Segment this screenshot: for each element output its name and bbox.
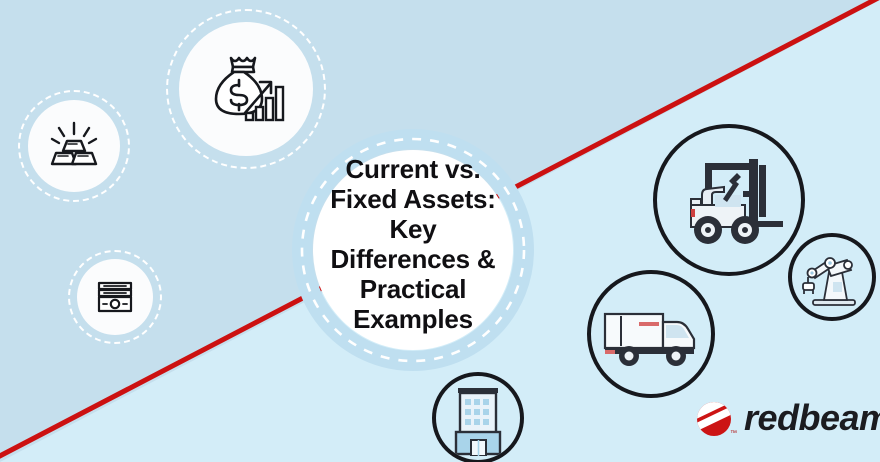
badge-cash-stack: [68, 250, 162, 344]
page-title: Current vs. Fixed Assets: Key Difference…: [301, 154, 525, 334]
trademark-symbol: ™: [730, 430, 737, 437]
circle-forklift: [653, 124, 805, 276]
cash-stack-icon: [68, 250, 162, 344]
circle-office-building: [432, 372, 524, 462]
circle-box-truck: [587, 270, 715, 398]
redbeam-logo: redbeam ™: [690, 392, 860, 444]
badge-gold-bars: [18, 90, 130, 202]
title-line: Practical: [301, 274, 525, 304]
hero-circle: Current vs. Fixed Assets: Key Difference…: [291, 128, 535, 372]
title-line: Differences &: [301, 244, 525, 274]
redbeam-wordmark: redbeam: [744, 397, 880, 439]
title-line: Key: [301, 214, 525, 244]
title-line: Current vs.: [301, 154, 525, 184]
title-line: Examples: [301, 304, 525, 334]
gold-bars-icon: [18, 90, 130, 202]
title-line: Fixed Assets:: [301, 184, 525, 214]
robotic-arm-icon: [792, 237, 872, 317]
circle-robotic-arm: [788, 233, 876, 321]
infographic-canvas: Current vs. Fixed Assets: Key Difference…: [0, 0, 880, 462]
box-truck-icon: [591, 274, 711, 394]
office-building-icon: [436, 376, 520, 460]
forklift-icon: [657, 128, 801, 272]
